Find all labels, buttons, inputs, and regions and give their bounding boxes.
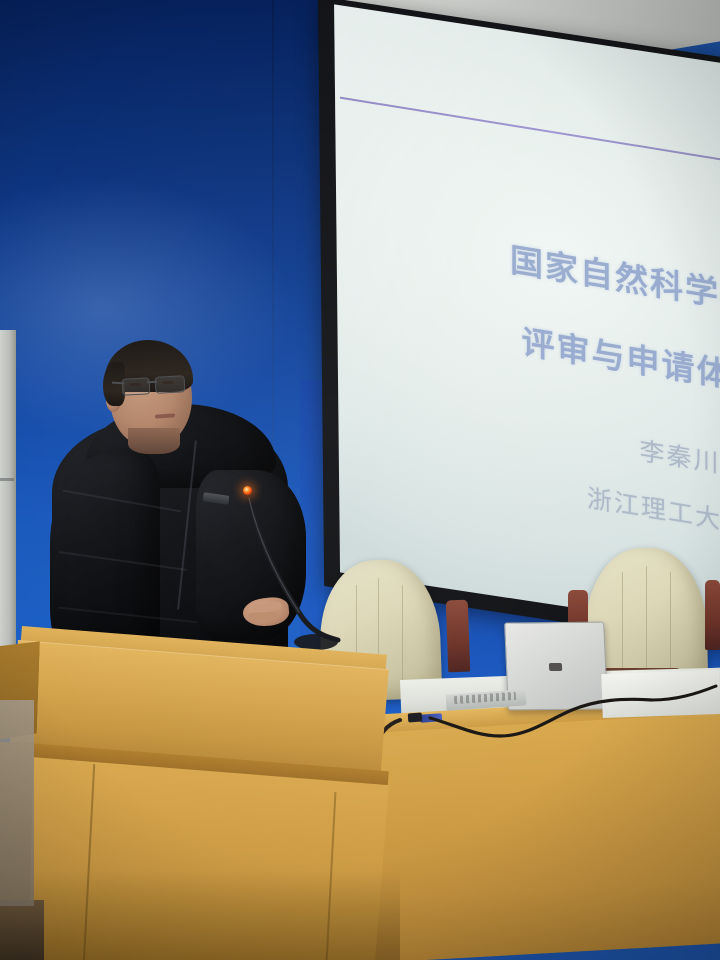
conference-desk-front-panel — [348, 713, 720, 960]
presenter-finger-1 — [248, 611, 278, 621]
podium-bottom-shadow — [0, 870, 400, 960]
desk-paper — [601, 670, 720, 718]
wall-base-shadow — [0, 700, 34, 906]
presenter-eye-right — [162, 381, 174, 384]
usb-connector — [420, 713, 443, 723]
microphone-led-indicator — [243, 486, 252, 495]
wall-left-panel-seam — [0, 478, 14, 481]
conference-photo: 国家自然科学基金 评审与申请体会 李秦川 浙江理工大学 — [0, 0, 720, 960]
presenter-eye-left — [130, 383, 141, 386]
chair-left-armrest — [446, 600, 470, 673]
laptop-logo — [549, 663, 562, 671]
chair-far-right-armrest — [705, 580, 720, 650]
usb-connector-body — [408, 713, 423, 723]
presenter-glasses-right-lens — [155, 375, 186, 394]
projection-screen-surface — [334, 4, 720, 632]
chair-right-stitch-2 — [646, 566, 647, 676]
floor-strip — [0, 900, 44, 960]
presenter-glasses-left-lens — [122, 377, 151, 395]
presenter-neck — [128, 428, 180, 454]
chair-left-stitch-3 — [402, 585, 403, 681]
chair-right-stitch-1 — [622, 572, 623, 674]
chair-right-stitch-3 — [670, 572, 671, 672]
screen-glare — [334, 4, 720, 632]
